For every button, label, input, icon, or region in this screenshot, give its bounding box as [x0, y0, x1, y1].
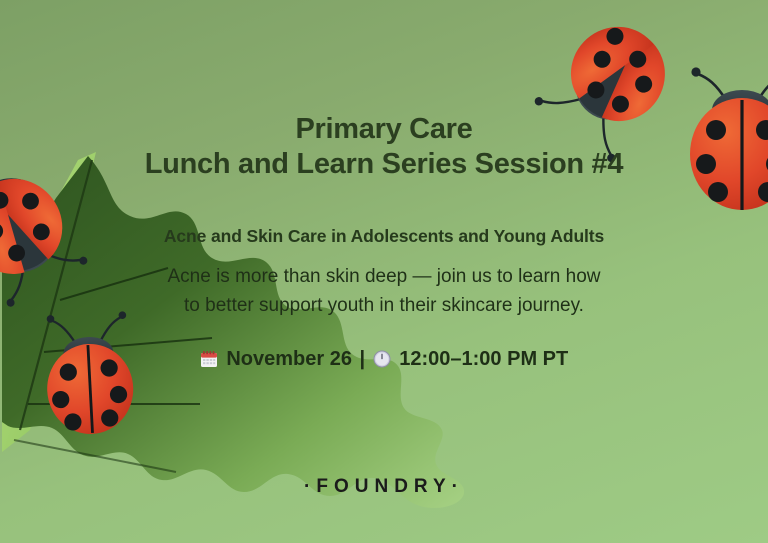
event-date: November 26	[226, 348, 352, 370]
calendar-icon	[200, 350, 218, 374]
foundry-logo: ·FOUNDRY·	[0, 476, 768, 498]
title-line-session: Lunch and Learn Series Session #4	[0, 147, 768, 182]
session-description: Acne is more than skin deep — join us to…	[0, 262, 768, 320]
event-time: 12:00–1:00 PM PT	[399, 348, 568, 370]
title-block: Primary Care Lunch and Learn Series Sess…	[0, 112, 768, 183]
description-line-1: Acne is more than skin deep — join us to…	[0, 262, 768, 291]
description-line-2: to better support youth in their skincar…	[0, 291, 768, 320]
title-line-primary-care: Primary Care	[0, 112, 768, 147]
poster-content: Primary Care Lunch and Learn Series Sess…	[0, 0, 768, 543]
poster-canvas: Primary Care Lunch and Learn Series Sess…	[0, 0, 768, 543]
session-subtitle: Acne and Skin Care in Adolescents and Yo…	[0, 226, 768, 247]
event-datetime: November 26 | 12:00–1:00 PM PT	[0, 348, 768, 374]
clock-icon	[373, 350, 391, 374]
datetime-separator: |	[358, 348, 368, 370]
